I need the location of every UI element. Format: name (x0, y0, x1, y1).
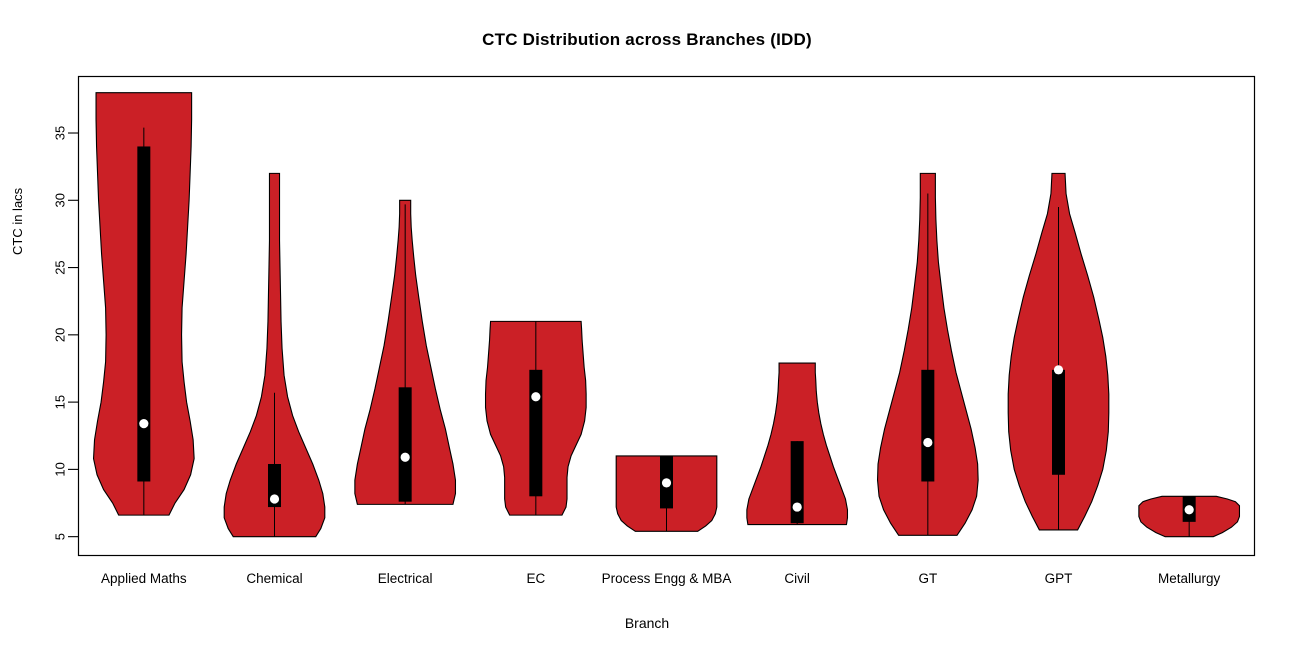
x-tick-label: GPT (1045, 571, 1073, 586)
x-tick-label: Applied Maths (101, 571, 187, 586)
median-marker (662, 478, 671, 487)
violin-metallurgy[interactable] (1139, 496, 1240, 536)
iqr-box (921, 370, 934, 482)
violin-process-engg-mba[interactable] (616, 456, 717, 531)
violin-gpt[interactable] (1008, 173, 1109, 530)
y-tick-label: 35 (53, 126, 68, 140)
median-marker (139, 419, 148, 428)
x-axis: Applied MathsChemicalElectricalECProcess… (101, 571, 1220, 586)
median-marker (1054, 365, 1063, 374)
violin-chart-page: CTC Distribution across Branches (IDD) C… (0, 0, 1294, 653)
y-tick-label: 25 (53, 260, 68, 274)
x-tick-label: Chemical (246, 571, 302, 586)
iqr-box (1052, 370, 1065, 475)
violin-gt[interactable] (878, 173, 979, 535)
x-tick-label: Metallurgy (1158, 571, 1221, 586)
plot-area: 5101520253035 Applied MathsChemicalElect… (0, 0, 1294, 653)
x-tick-label: GT (918, 571, 937, 586)
x-tick-label: Process Engg & MBA (602, 571, 732, 586)
iqr-box (529, 370, 542, 496)
x-tick-label: Civil (784, 571, 810, 586)
median-marker (270, 494, 279, 503)
y-tick-label: 5 (53, 533, 68, 540)
median-marker (923, 438, 932, 447)
violin-applied-maths[interactable] (94, 93, 195, 515)
iqr-box (137, 146, 150, 481)
median-marker (531, 392, 540, 401)
y-tick-label: 20 (53, 328, 68, 342)
y-tick-label: 10 (53, 462, 68, 476)
iqr-box (399, 387, 412, 501)
violin-civil[interactable] (747, 363, 848, 524)
violin-series-group (94, 93, 1240, 537)
y-axis: 5101520253035 (53, 126, 79, 541)
y-tick-label: 15 (53, 395, 68, 409)
median-marker (401, 453, 410, 462)
violin-electrical[interactable] (355, 200, 456, 504)
x-tick-label: Electrical (378, 571, 433, 586)
x-tick-label: EC (526, 571, 545, 586)
violin-ec[interactable] (486, 321, 587, 515)
y-tick-label: 30 (53, 193, 68, 207)
median-marker (793, 502, 802, 511)
median-marker (1185, 505, 1194, 514)
violin-chemical[interactable] (224, 173, 325, 536)
